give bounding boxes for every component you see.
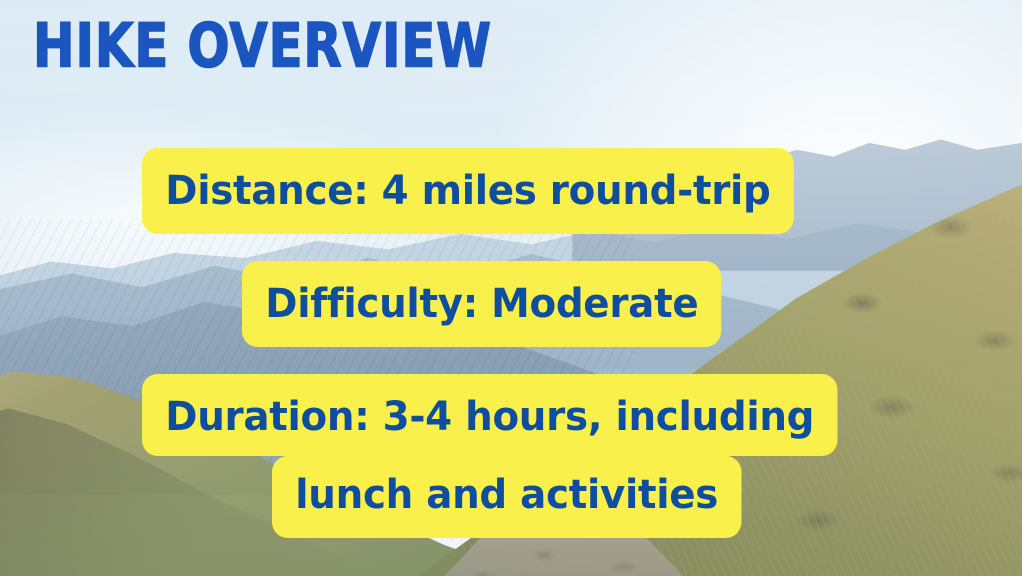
- overview-list: Distance: 4 miles round-trip Difficulty:…: [0, 148, 1022, 538]
- highlight-duration-line-1: Duration: 3-4 hours, including: [142, 374, 837, 456]
- list-item-duration-line-1: Duration: 3-4 hours, including: [0, 374, 1022, 456]
- highlight-duration-line-2: lunch and activities: [272, 456, 741, 538]
- list-item-duration-line-2: lunch and activities: [0, 456, 1022, 538]
- highlight-difficulty: Difficulty: Moderate: [242, 261, 722, 347]
- highlight-distance: Distance: 4 miles round-trip: [142, 148, 794, 234]
- hike-overview-slide: HIKE OVERVIEW Distance: 4 miles round-tr…: [0, 0, 1022, 576]
- slide-content: HIKE OVERVIEW Distance: 4 miles round-tr…: [0, 0, 1022, 576]
- page-title: HIKE OVERVIEW: [33, 16, 492, 76]
- list-item-difficulty: Difficulty: Moderate: [0, 261, 1022, 347]
- list-item-distance: Distance: 4 miles round-trip: [0, 148, 1022, 234]
